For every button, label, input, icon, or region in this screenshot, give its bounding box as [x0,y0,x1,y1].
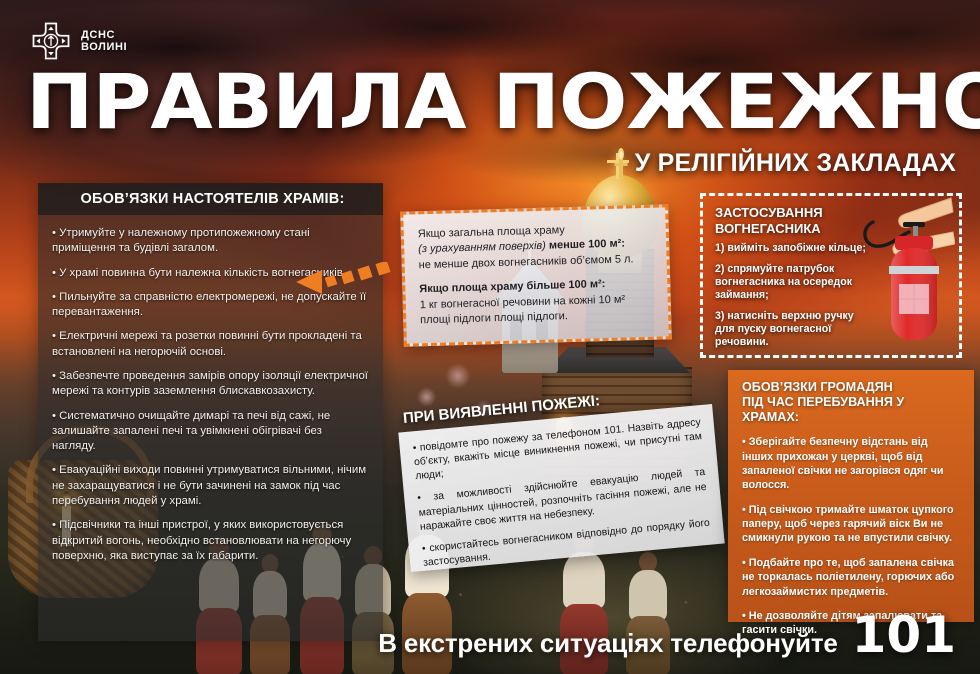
extinguisher-step: 3) натисніть верхню ручку для пуску вогн… [715,310,867,350]
citizen-item: • Під свічкою тримайте шматок цупкого па… [742,503,961,546]
clergy-item: • Підсвічники та інші пристрої, у яких в… [52,518,368,564]
area-rule2-bold: Якщо площа храму більше 100 м²: [419,278,605,295]
clergy-item: • Електричні мережі та розетки повинні б… [52,329,368,360]
clergy-item: • Утримуйте у належному протипожежному с… [52,226,368,257]
area-rule2-line1: 1 кг вогнегасної речовини на кожні 10 м² [420,293,626,311]
emergency-call-banner: В екстрених ситуаціях телефонуйте 101 [378,610,956,660]
citizen-item: • Подбайте про те, щоб запалена свічка н… [742,556,961,599]
panel-on-fire-discovery: ПРИ ВИЯВЛЕННІ ПОЖЕЖІ: • повідомте про по… [398,404,724,572]
dsns-logo: ДСНС ВОЛИНІ [30,20,127,62]
clergy-item: • Забезпечте проведення замірів опору із… [52,369,368,400]
area-rule-1: Якщо загальна площа храму (з урахуванням… [418,221,653,274]
panel-clergy-duties: ОБОВ’ЯЗКИ НАСТОЯТЕЛІВ ХРАМІВ: • Утримуйт… [38,184,383,641]
extinguisher-step: 1) вийміть запобіжне кільце; [715,242,867,255]
poster-canvas: ДСНС ВОЛИНІ ПРАВИЛА ПОЖЕЖНОЇ БЕЗПЕКИ У Р… [0,0,980,674]
clergy-item: • Евакуаційні виходи повинні утримуватис… [52,463,368,509]
area-rule2-line2: площі підлоги площі підлоги. [420,310,568,326]
area-rule1-bold: менше 100 м²: [546,238,625,252]
area-rule1-paren: (з урахуванням поверхів) [418,240,546,256]
citizen-item: • Зберігайте безпечну відстань від інших… [742,435,961,492]
page-title: ПРАВИЛА ПОЖЕЖНОЇ БЕЗПЕКИ [26,66,980,137]
fire-extinguisher-with-hands-icon [859,192,955,352]
extinguisher-step: 2) спрямуйте патрубок вогнегасника на ос… [715,263,867,303]
panel-extinguisher-usage: ЗАСТОСУВАННЯ ВОГНЕГАСНИКА 1) вийміть зап… [700,193,962,358]
citizens-heading-line-1: ОБОВ’ЯЗКИ ГРОМАДЯН [742,380,964,395]
panel-area-body: Якщо загальна площа храму (з урахуванням… [403,207,668,342]
panel-fire-body: • повідомте про пожежу за телефоном 101.… [398,404,726,588]
area-rule-2: Якщо площа храму більше 100 м²: 1 кг вог… [419,276,654,329]
panel-clergy-body: • Утримуйте у належному протипожежному с… [38,184,383,581]
page-subtitle: У РЕЛІГІЙНИХ ЗАКЛАДАХ [613,146,956,180]
dsns-cross-emblem-icon [30,20,72,62]
page-subtitle-text: У РЕЛІГІЙНИХ ЗАКЛАДАХ [635,149,956,178]
citizens-heading-line-2: ПІД ЧАС ПЕРЕБУВАННЯ У ХРАМАХ: [742,395,964,425]
clergy-item: • Систематично очищайте димарі та печі в… [52,409,368,455]
panel-area-requirements: Якщо загальна площа храму (з урахуванням… [400,204,672,346]
panel-clergy-heading: ОБОВ’ЯЗКИ НАСТОЯТЕЛІВ ХРАМІВ: [38,183,383,215]
area-rule1-lead: Якщо загальна площа храму [418,224,565,240]
logo-line-1: ДСНС [81,29,127,41]
emergency-number: 101 [852,610,956,660]
dsns-logo-text: ДСНС ВОЛИНІ [81,29,127,54]
orange-dashed-arrow-icon [296,262,392,302]
logo-line-2: ВОЛИНІ [81,41,127,53]
candle-cross-icon [613,146,629,180]
emergency-text: В екстрених ситуаціях телефонуйте [378,628,837,659]
panel-citizens-heading: ОБОВ’ЯЗКИ ГРОМАДЯН ПІД ЧАС ПЕРЕБУВАННЯ У… [728,370,974,433]
panel-citizen-duties: ОБОВ’ЯЗКИ ГРОМАДЯН ПІД ЧАС ПЕРЕБУВАННЯ У… [728,370,974,622]
